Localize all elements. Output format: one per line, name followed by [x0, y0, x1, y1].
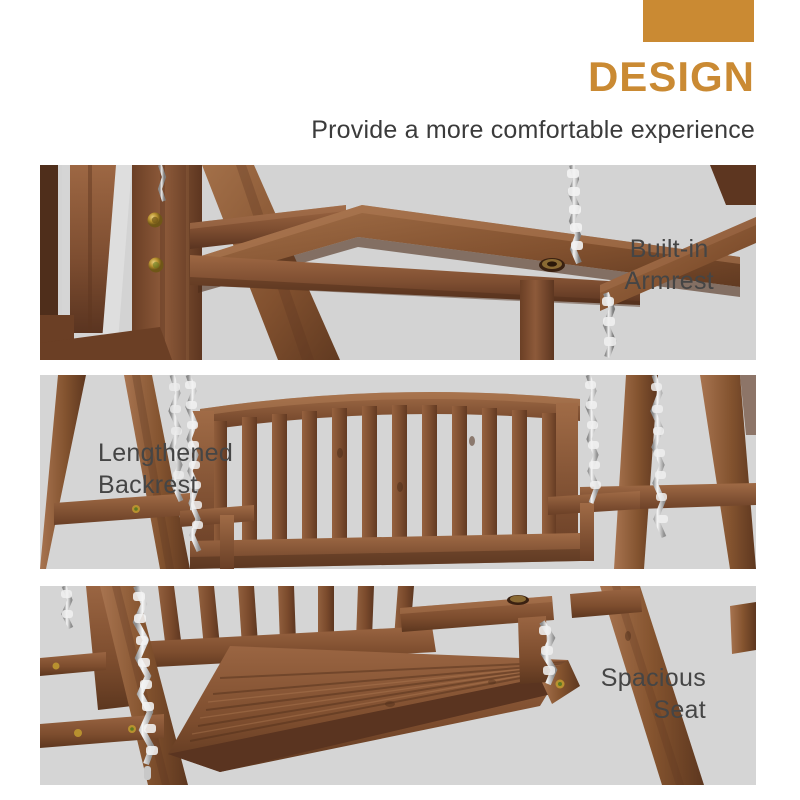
feature-panel-backrest: Lengthened Backrest	[40, 375, 756, 569]
feature-panel-seat: Spacious Seat	[40, 586, 756, 785]
page-title: DESIGN	[588, 56, 755, 98]
header-block: DESIGN Provide a more comfortable experi…	[0, 0, 800, 162]
panel-caption-seat: Spacious Seat	[601, 662, 706, 726]
panel-caption-armrest: Built-in Armrest	[624, 233, 714, 297]
feature-panel-armrest: Built-in Armrest	[40, 165, 756, 360]
panel-caption-backrest: Lengthened Backrest	[98, 437, 233, 501]
accent-bar	[643, 0, 754, 42]
chain-left	[160, 165, 164, 201]
page-subtitle: Provide a more comfortable experience	[311, 115, 755, 145]
